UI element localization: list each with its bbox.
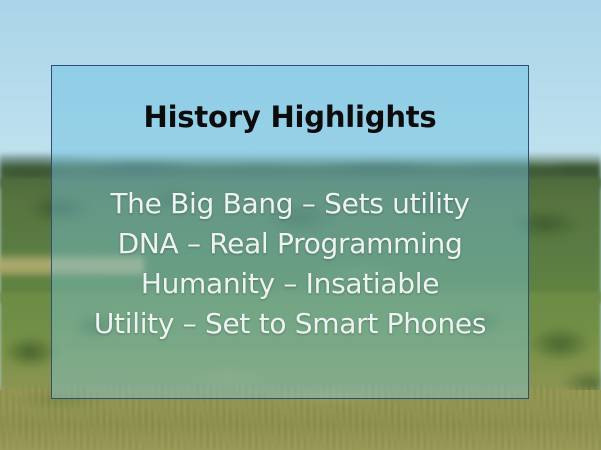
body-line: The Big Bang – Sets utility — [52, 184, 528, 224]
body-line: DNA – Real Programming — [52, 224, 528, 264]
slide: History Highlights The Big Bang – Sets u… — [0, 0, 601, 450]
slide-body: The Big Bang – Sets utility DNA – Real P… — [52, 184, 528, 344]
body-line: Utility – Set to Smart Phones — [52, 304, 528, 344]
slide-title: History Highlights — [52, 103, 528, 132]
body-line: Humanity – Insatiable — [52, 264, 528, 304]
content-panel: History Highlights The Big Bang – Sets u… — [51, 65, 529, 399]
